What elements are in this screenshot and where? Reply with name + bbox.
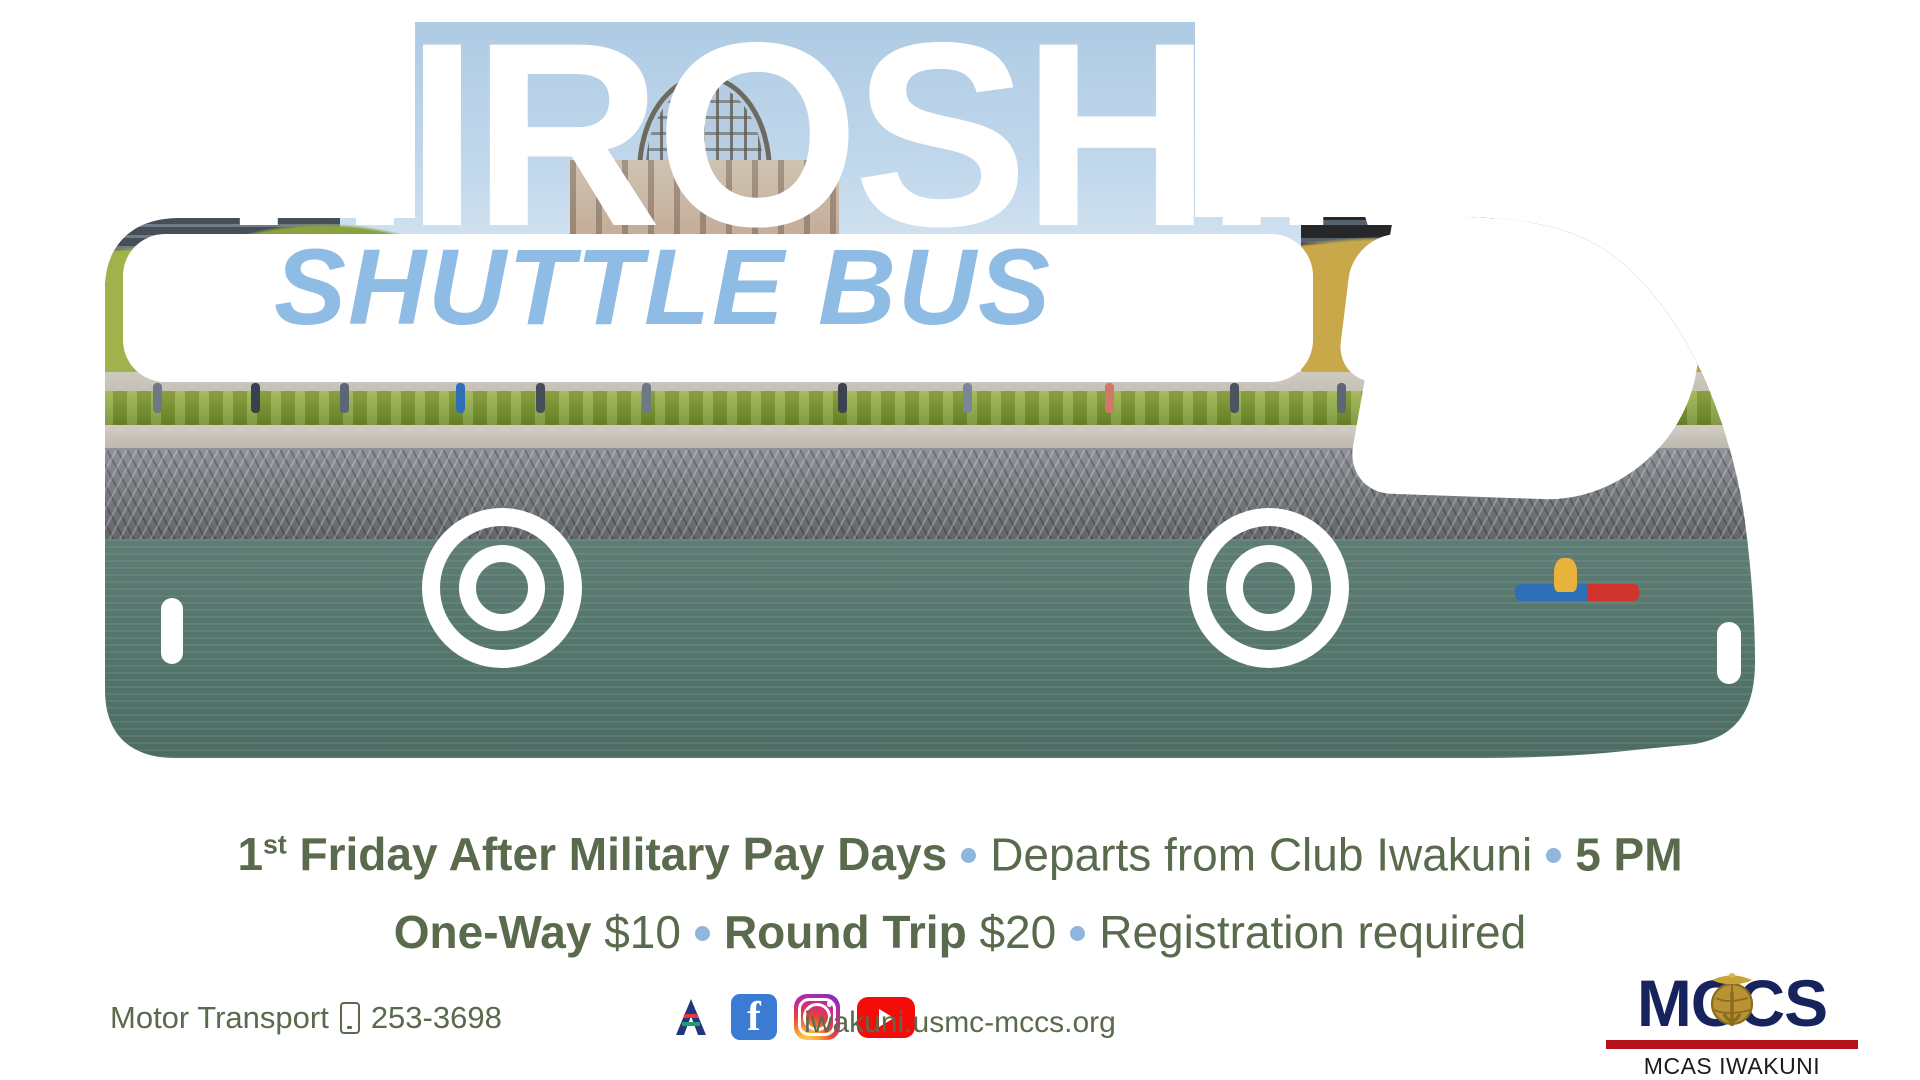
poster: HIROSHIMA SHUTTLE BUS 1st Friday After M… <box>0 0 1920 1080</box>
pedestrian <box>963 383 972 413</box>
rear-light <box>161 598 183 664</box>
eagle-globe-anchor-icon <box>1694 962 1770 1038</box>
pedestrian <box>536 383 545 413</box>
mccs-logo: MCCS MCAS IWAKUNI <box>1606 970 1858 1080</box>
side-mirror <box>1737 269 1796 384</box>
footer-bar: Motor Transport 253-3698 iwakuni.usmc-mc… <box>0 988 1920 1080</box>
kayak <box>1515 584 1640 601</box>
roundtrip-price: $20 <box>979 906 1056 958</box>
pay-day-text: 1st Friday After Military Pay Days <box>237 828 947 880</box>
departure-time: 5 PM <box>1575 828 1682 880</box>
bullet-separator <box>1546 848 1561 863</box>
detail-line-1: 1st Friday After Military Pay DaysDepart… <box>0 806 1920 893</box>
bullet-separator <box>961 848 976 863</box>
kayaker <box>1554 558 1577 592</box>
pedestrian <box>456 383 465 413</box>
bus-graphic: HIROSHIMA SHUTTLE BUS <box>0 0 1920 800</box>
bullet-separator <box>695 926 710 941</box>
ordinal-number: 1 <box>237 828 263 880</box>
pay-day-rest: Friday After Military Pay Days <box>287 828 947 880</box>
mirror-arm <box>1722 252 1769 283</box>
rear-wheel <box>422 508 582 668</box>
pedestrian <box>1105 383 1114 413</box>
schedule-details: 1st Friday After Military Pay DaysDepart… <box>0 806 1920 971</box>
pedestrian <box>340 383 349 413</box>
rear-hub <box>459 545 545 631</box>
mccs-installation: MCAS IWAKUNI <box>1606 1053 1858 1080</box>
roundtrip-label: Round Trip <box>724 906 967 958</box>
pedestrian <box>251 383 260 413</box>
pedestrian <box>153 383 162 413</box>
bullet-separator <box>1070 926 1085 941</box>
mccs-red-bar <box>1606 1040 1858 1049</box>
pedestrian <box>1230 383 1239 413</box>
pedestrian <box>838 383 847 413</box>
subtitle: SHUTTLE BUS <box>68 212 1258 360</box>
pedestrian <box>642 383 651 413</box>
ordinal-suffix: st <box>263 830 287 860</box>
departure-location: Departs from Club Iwakuni <box>990 828 1532 880</box>
front-wheel <box>1189 508 1349 668</box>
front-light <box>1717 622 1741 684</box>
oneway-label: One-Way <box>394 906 592 958</box>
front-hub <box>1226 545 1312 631</box>
bus-silhouette-mask: HIROSHIMA <box>55 22 1835 782</box>
oneway-price: $10 <box>604 906 681 958</box>
pedestrian <box>1337 383 1346 413</box>
registration-note: Registration required <box>1099 906 1526 958</box>
detail-line-2: One-Way $10Round Trip $20Registration re… <box>0 893 1920 971</box>
mccs-wordmark: MCCS <box>1606 970 1858 1036</box>
